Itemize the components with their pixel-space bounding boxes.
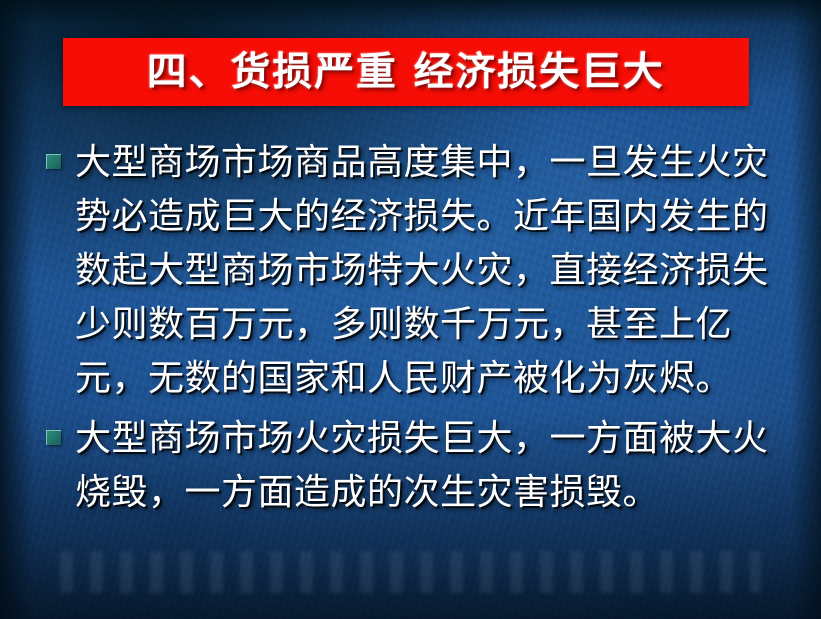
slide-title-text: 四、货损严重 经济损失巨大: [147, 53, 665, 92]
slide-body: 大型商场市场商品高度集中，一旦发生火灾势必造成巨大的经济损失。近年国内发生的数起…: [46, 136, 793, 520]
square-bullet-icon: [46, 430, 61, 445]
square-bullet-icon: [46, 154, 61, 169]
bullet-item: 大型商场市场火灾损失巨大，一方面被大火烧毁，一方面造成的次生灾害损毁。: [46, 412, 793, 520]
presentation-slide: 四、货损严重 经济损失巨大 大型商场市场商品高度集中，一旦发生火灾势必造成巨大的…: [0, 0, 821, 619]
background-ghost-artifact: [60, 551, 761, 593]
bullet-item: 大型商场市场商品高度集中，一旦发生火灾势必造成巨大的经济损失。近年国内发生的数起…: [46, 136, 793, 406]
slide-title-banner: 四、货损严重 经济损失巨大: [63, 38, 749, 106]
bullet-item-text: 大型商场市场商品高度集中，一旦发生火灾势必造成巨大的经济损失。近年国内发生的数起…: [75, 136, 793, 406]
bullet-item-text: 大型商场市场火灾损失巨大，一方面被大火烧毁，一方面造成的次生灾害损毁。: [75, 412, 793, 520]
